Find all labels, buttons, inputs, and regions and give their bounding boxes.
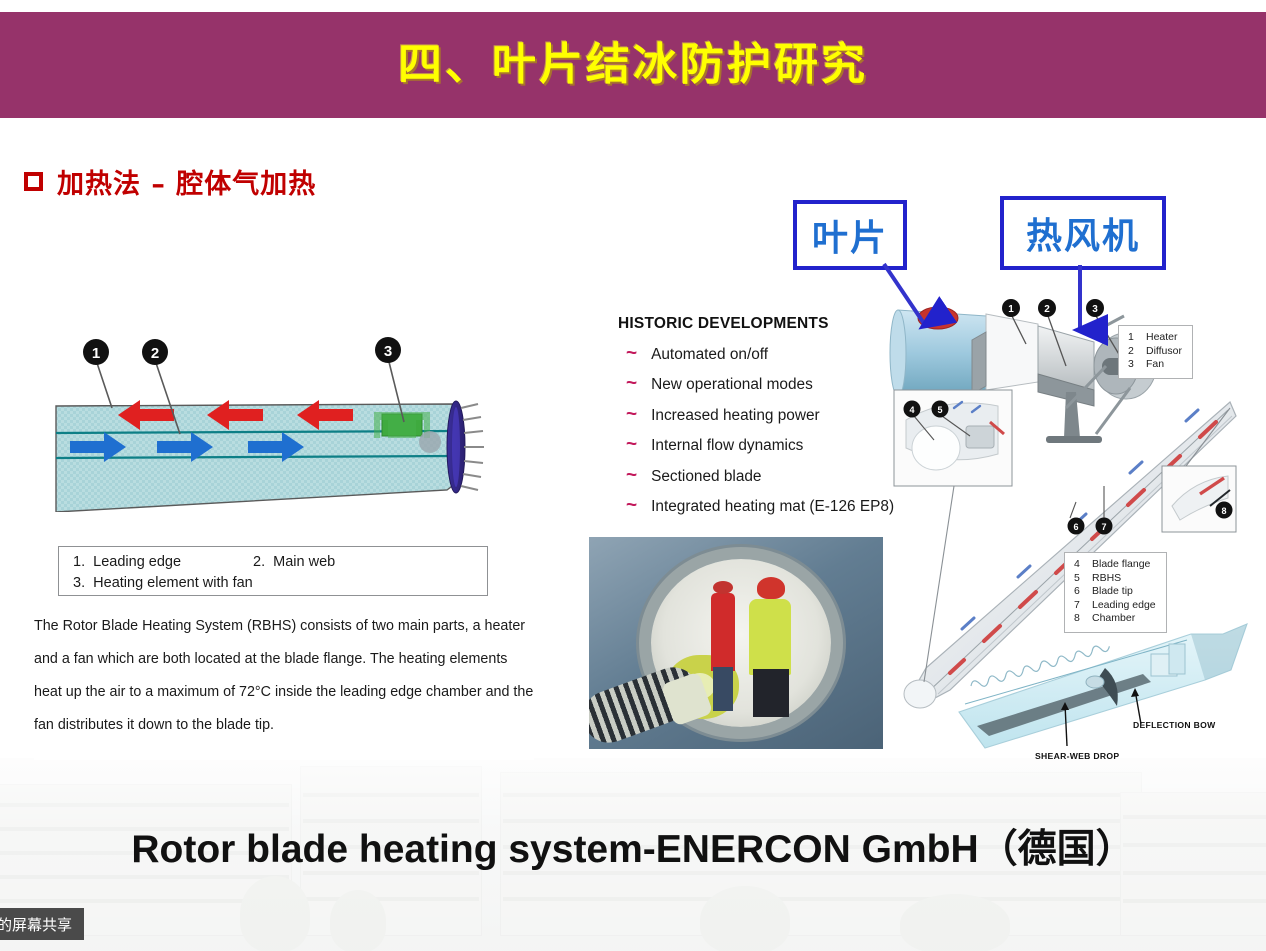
legend-label: Chamber <box>1092 612 1135 626</box>
screen-share-label: 电的屏幕共享 <box>0 914 72 935</box>
legend-row: 7 Leading edge <box>1074 599 1156 613</box>
list-item-label: Increased heating power <box>651 407 820 425</box>
blade-parts-legend-right: 4 Blade flange 5 RBHS 6 Blade tip 7 Lead… <box>1064 552 1167 633</box>
legend-row: 1. Leading edge 2. Main web <box>73 552 487 573</box>
shear-web-drop-label: SHEAR-WEB DROP <box>1035 751 1119 761</box>
section-heading-label: 加热法 – 腔体气加热 <box>57 162 316 201</box>
tilde-bullet-icon: ~ <box>626 469 637 483</box>
blade-root-workers-photo <box>589 537 883 749</box>
photo-worker <box>749 599 791 675</box>
legend-label: Blade tip <box>1092 585 1133 599</box>
legend-num: 6 <box>1074 585 1083 599</box>
legend-label: Blade flange <box>1092 558 1150 572</box>
legend-row: 3 Fan <box>1128 358 1182 372</box>
photo-worker-legs <box>713 667 733 711</box>
svg-text:3: 3 <box>384 343 392 360</box>
svg-text:4: 4 <box>909 405 914 415</box>
legend-row: 4 Blade flange <box>1074 558 1156 572</box>
legend-num: 7 <box>1074 599 1083 613</box>
tilde-bullet-icon: ~ <box>626 499 637 513</box>
legend-num: 3 <box>1128 358 1137 372</box>
legend-num: 8 <box>1074 612 1083 626</box>
square-bullet-icon <box>24 172 43 191</box>
slide-caption: Rotor blade heating system-ENERCON GmbH（… <box>0 818 1266 874</box>
tilde-bullet-icon: ~ <box>626 408 637 422</box>
legend-num: 1. <box>73 554 85 570</box>
legend-row: 2 Diffusor <box>1128 345 1182 359</box>
legend-label: RBHS <box>1092 572 1121 586</box>
legend-label: Fan <box>1146 358 1164 372</box>
legend-label: Heater <box>1146 331 1178 345</box>
blade-cross-section-diagram: 1 2 3 <box>52 330 542 520</box>
photo-worker <box>711 593 735 671</box>
legend-label: Heating element with fan <box>93 575 253 591</box>
list-item-label: Sectioned blade <box>651 468 761 486</box>
list-item-label: Automated on/off <box>651 346 768 364</box>
photo-worker-legs <box>753 669 789 717</box>
legend-num: 4 <box>1074 558 1083 572</box>
legend-label: Diffusor <box>1146 345 1182 359</box>
svg-text:2: 2 <box>1044 304 1050 315</box>
callout-hot-air-fan: 热风机 <box>1000 196 1166 270</box>
svg-text:5: 5 <box>937 405 942 415</box>
photo-worker-helmet <box>713 581 733 594</box>
deflection-bow-label: DEFLECTION BOW <box>1133 720 1216 730</box>
slide-root: 四、叶片结冰防护研究 加热法 – 腔体气加热 <box>0 0 1266 951</box>
blade-parts-legend: 1. Leading edge 2. Main web 3. Heating e… <box>58 546 488 596</box>
section-heading: 加热法 – 腔体气加热 <box>24 162 316 201</box>
svg-text:1: 1 <box>1008 304 1014 315</box>
tilde-bullet-icon: ~ <box>626 347 637 361</box>
svg-text:6: 6 <box>1073 522 1078 532</box>
page-title: 四、叶片结冰防护研究 <box>0 28 1266 92</box>
legend-row: 5 RBHS <box>1074 572 1156 586</box>
legend-num: 3. <box>73 575 85 591</box>
screen-share-indicator[interactable]: 电的屏幕共享 <box>0 908 84 940</box>
svg-text:8: 8 <box>1221 506 1226 516</box>
heater-parts-legend: 1 Heater 2 Diffusor 3 Fan <box>1118 325 1193 379</box>
legend-label: Leading edge <box>1092 599 1156 613</box>
blade-cutaway-diagram: SHEAR-WEB DROP DEFLECTION BOW <box>955 620 1255 788</box>
tilde-bullet-icon: ~ <box>626 438 637 452</box>
legend-num: 1 <box>1128 331 1137 345</box>
svg-text:1: 1 <box>92 345 100 362</box>
legend-label: Main web <box>273 554 335 570</box>
list-item-label: Internal flow dynamics <box>651 437 803 455</box>
legend-row: 1 Heater <box>1128 331 1182 345</box>
svg-text:7: 7 <box>1101 522 1106 532</box>
photo-worker-helmet <box>757 577 785 599</box>
legend-num: 2 <box>1128 345 1137 359</box>
legend-num: 5 <box>1074 572 1083 586</box>
legend-row: 3. Heating element with fan <box>73 573 487 594</box>
svg-text:2: 2 <box>151 345 159 362</box>
list-item-label: New operational modes <box>651 376 813 394</box>
legend-row: 8 Chamber <box>1074 612 1156 626</box>
legend-num: 2. <box>253 554 265 570</box>
legend-label: Leading edge <box>93 554 181 570</box>
list-item-label: Integrated heating mat (E-126 EP8) <box>651 498 894 516</box>
tilde-bullet-icon: ~ <box>626 377 637 391</box>
left-text-panel: 1. Leading edge 2. Main web 3. Heating e… <box>34 512 534 760</box>
rbhs-description-paragraph: The Rotor Blade Heating System (RBHS) co… <box>34 610 534 742</box>
legend-row: 6 Blade tip <box>1074 585 1156 599</box>
svg-text:3: 3 <box>1092 304 1098 315</box>
callout-blade: 叶片 <box>793 200 907 270</box>
